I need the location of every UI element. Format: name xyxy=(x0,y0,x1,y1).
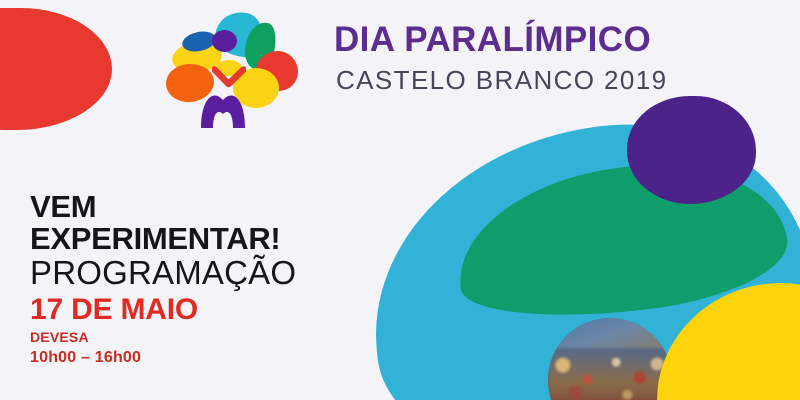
event-location: DEVESA xyxy=(30,330,330,345)
headline-line-2: EXPERIMENTAR! xyxy=(30,224,330,254)
subheadline: PROGRAMAÇÃO xyxy=(30,256,330,289)
event-time: 10h00 – 16h00 xyxy=(30,349,330,367)
event-date: 17 DE MAIO xyxy=(30,295,330,325)
athlete-photo xyxy=(548,318,672,400)
purple-arch-icon xyxy=(200,87,246,129)
page-title: DIA PARALÍMPICO xyxy=(334,22,668,57)
headline-line-1: VEM xyxy=(30,192,330,222)
red-chevron-smile-icon xyxy=(212,66,246,88)
purple-oval-icon xyxy=(212,30,237,52)
paralympic-blobs-logo xyxy=(158,8,298,128)
purple-circle-decoration xyxy=(627,96,756,204)
photo-crowd xyxy=(548,348,672,400)
poster-canvas: DIA PARALÍMPICO CASTELO BRANCO 2019 VEM … xyxy=(0,0,800,400)
page-subtitle: CASTELO BRANCO 2019 xyxy=(336,67,668,93)
athlete-photo-inner xyxy=(548,318,672,400)
red-blob-decoration xyxy=(0,8,112,130)
event-info-block: VEM EXPERIMENTAR! PROGRAMAÇÃO 17 DE MAIO… xyxy=(30,192,330,366)
header-text-block: DIA PARALÍMPICO CASTELO BRANCO 2019 xyxy=(334,22,668,93)
